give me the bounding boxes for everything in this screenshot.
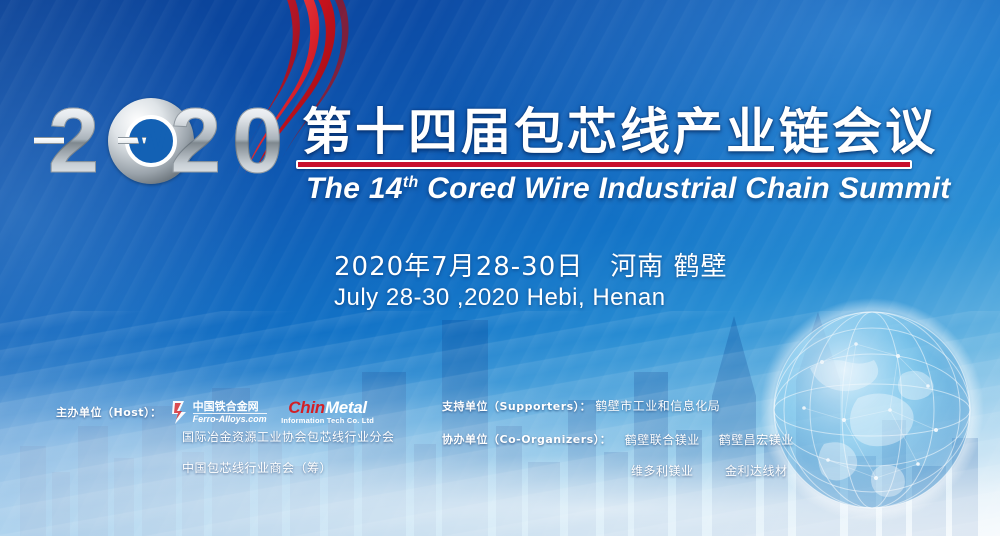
chinmetal-name: ChinMetal — [288, 399, 367, 416]
organizers-label: 协办单位（Co-Organizers）： — [442, 431, 611, 447]
globe-network-graphic — [752, 290, 992, 530]
title-english-pre: The 14 — [306, 172, 403, 205]
ferroalloys-mark-icon — [170, 399, 190, 425]
supporters-row: 支持单位（Supporters）： 鹤壁市工业和信息化局 — [442, 397, 720, 414]
organizer-3: 维多利镁业 — [615, 462, 709, 479]
emblem-w-letter: W — [108, 98, 194, 184]
host-line-2: 中国包芯线行业商会（筹） — [182, 459, 395, 476]
ferroalloys-logo-text: 中国铁合金网 Ferro-Alloys.com — [193, 401, 267, 424]
host-line-1: 国际冶金资源工业协会包芯线行业分会 — [182, 428, 395, 445]
ferroalloys-name-en: Ferro-Alloys.com — [193, 413, 267, 424]
year-digit-4: 0 — [232, 96, 281, 186]
host-row: 主办单位（Host）： 中国铁合金网 Ferro-Alloys.com Chin… — [56, 396, 382, 428]
organizer-4: 金利达线材 — [709, 462, 803, 479]
host-label: 主办单位（Host）： — [56, 404, 162, 420]
title-chinese: 第十四届包芯线产业链会议 — [302, 92, 938, 164]
date-english: July 28-30 ,2020 Hebi, Henan — [334, 284, 666, 312]
date-chinese: 2020年7月28-30日 河南 鹤壁 — [334, 246, 728, 283]
title-divider-rule — [296, 160, 912, 169]
organizers-names: 鹤壁联合镁业 鹤壁昌宏镁业 维多利镁业 金利达线材 — [615, 431, 803, 479]
host-organization-lines: 国际冶金资源工业协会包芯线行业分会 中国包芯线行业商会（筹） — [182, 428, 395, 490]
chinmetal-logo[interactable]: ChinMetal Information Tech Co. Ltd — [274, 396, 382, 428]
supporters-label: 支持单位（Supporters）： — [442, 398, 591, 414]
ferroalloys-logo[interactable]: 中国铁合金网 Ferro-Alloys.com — [170, 397, 266, 427]
title-english-post: Cored Wire Industrial Chain Summit — [419, 172, 951, 205]
ferroalloys-name-cn: 中国铁合金网 — [193, 401, 267, 412]
organizers-row: 协办单位（Co-Organizers）： 鹤壁联合镁业 鹤壁昌宏镁业 维多利镁业… — [442, 431, 803, 479]
year-emblem-zero: W — [108, 98, 194, 184]
title-english-ordinal: th — [403, 174, 419, 191]
organizer-2: 鹤壁昌宏镁业 — [709, 431, 803, 448]
organizer-1: 鹤壁联合镁业 — [615, 431, 709, 448]
chinmetal-name-part1: Chin — [288, 398, 325, 417]
chinmetal-subtitle: Information Tech Co. Ltd — [281, 417, 374, 425]
title-english: The 14th Cored Wire Industrial Chain Sum… — [306, 172, 951, 206]
supporters-value: 鹤壁市工业和信息化局 — [595, 397, 720, 414]
organizers-line-1: 鹤壁联合镁业 鹤壁昌宏镁业 — [615, 431, 803, 448]
year-logo-2020: 2 W 2 0 — [48, 96, 298, 186]
chinmetal-name-part2: Metal — [325, 398, 367, 417]
organizers-line-2: 维多利镁业 金利达线材 — [615, 462, 803, 479]
conference-banner: 2 W 2 0 第十四届包芯线产业链会议 The 14th Cored Wire… — [0, 0, 1000, 536]
emblem-bar-left — [34, 137, 64, 144]
